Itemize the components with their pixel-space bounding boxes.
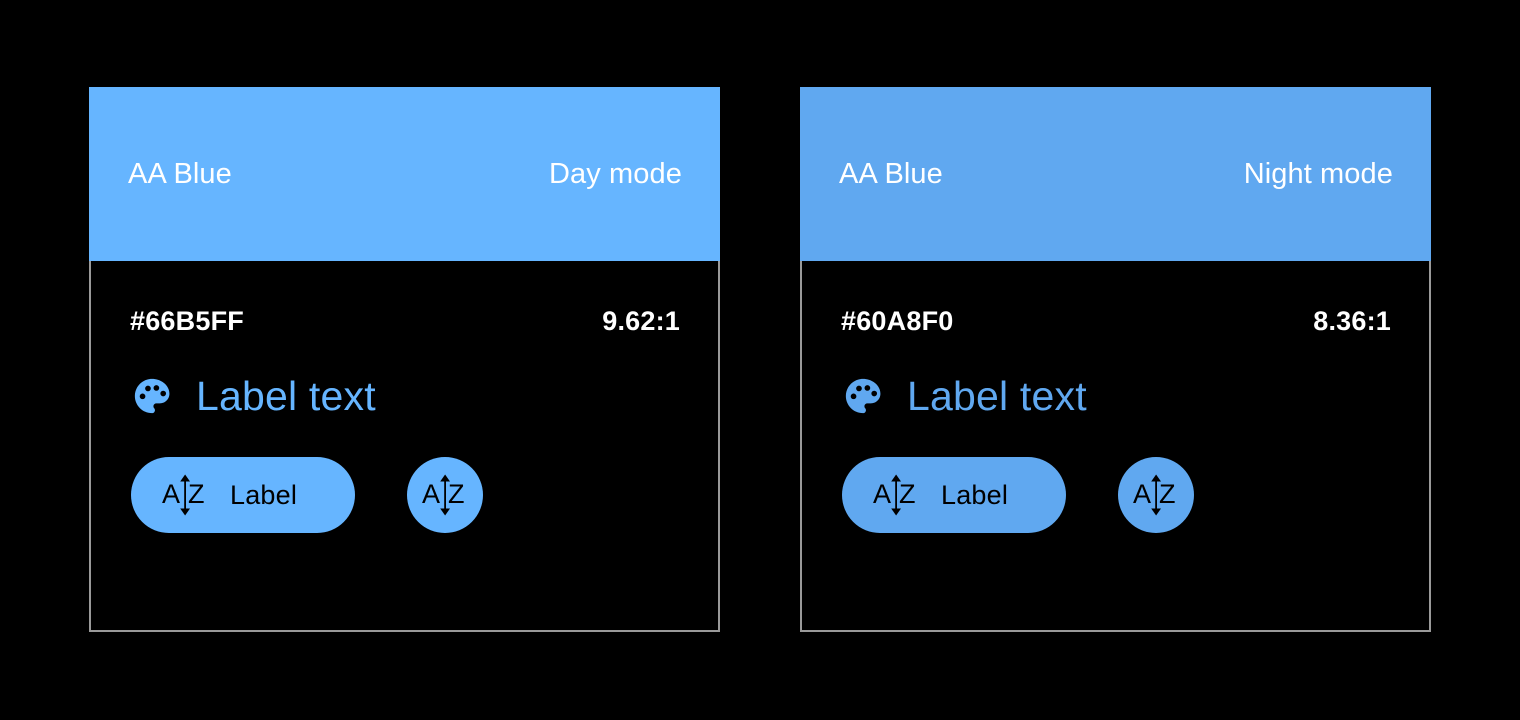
card-title: AA Blue	[128, 160, 232, 189]
color-card-day: AA Blue Day mode #66B5FF 9.62:1 Label te…	[89, 87, 720, 632]
color-card-night: AA Blue Night mode #60A8F0 8.36:1 Label …	[800, 87, 1431, 632]
label-text-row: Label text	[841, 335, 1391, 417]
palette-icon	[842, 375, 884, 417]
sort-az-icon-button[interactable]: A Z	[1118, 457, 1194, 533]
label-text: Label text	[907, 376, 1087, 417]
sort-alpha-az-icon: A Z	[421, 473, 469, 517]
card-body-night: #60A8F0 8.36:1 Label text A Z	[800, 261, 1431, 632]
sort-az-icon-button[interactable]: A Z	[407, 457, 483, 533]
svg-text:Z: Z	[448, 479, 465, 509]
pill-button-label: Label	[941, 482, 1008, 509]
page-root: AA Blue Day mode #66B5FF 9.62:1 Label te…	[0, 0, 1520, 720]
button-row: A Z Label A Z	[841, 417, 1391, 533]
color-meta-row: #60A8F0 8.36:1	[841, 261, 1391, 335]
button-row: A Z Label A Z	[130, 417, 680, 533]
card-body-day: #66B5FF 9.62:1 Label text A Z	[89, 261, 720, 632]
palette-icon	[131, 375, 173, 417]
label-text: Label text	[196, 376, 376, 417]
label-text-row: Label text	[130, 335, 680, 417]
color-hex-value: #66B5FF	[130, 308, 244, 335]
sort-alpha-az-icon: A Z	[161, 473, 209, 517]
card-mode-label: Night mode	[1244, 160, 1393, 189]
svg-text:A: A	[162, 479, 180, 509]
svg-text:Z: Z	[1159, 479, 1176, 509]
svg-text:A: A	[422, 479, 440, 509]
sort-az-pill-button[interactable]: A Z Label	[842, 457, 1066, 533]
color-meta-row: #66B5FF 9.62:1	[130, 261, 680, 335]
contrast-ratio-value: 8.36:1	[1313, 308, 1391, 335]
svg-text:A: A	[873, 479, 891, 509]
color-hex-value: #60A8F0	[841, 308, 953, 335]
svg-text:Z: Z	[188, 479, 205, 509]
sort-alpha-az-icon: A Z	[1132, 473, 1180, 517]
contrast-ratio-value: 9.62:1	[602, 308, 680, 335]
card-mode-label: Day mode	[549, 160, 682, 189]
svg-text:Z: Z	[899, 479, 916, 509]
sort-alpha-az-icon: A Z	[872, 473, 920, 517]
card-title: AA Blue	[839, 160, 943, 189]
svg-text:A: A	[1133, 479, 1151, 509]
sort-az-pill-button[interactable]: A Z Label	[131, 457, 355, 533]
card-header-night: AA Blue Night mode	[800, 87, 1431, 261]
card-header-day: AA Blue Day mode	[89, 87, 720, 261]
pill-button-label: Label	[230, 482, 297, 509]
